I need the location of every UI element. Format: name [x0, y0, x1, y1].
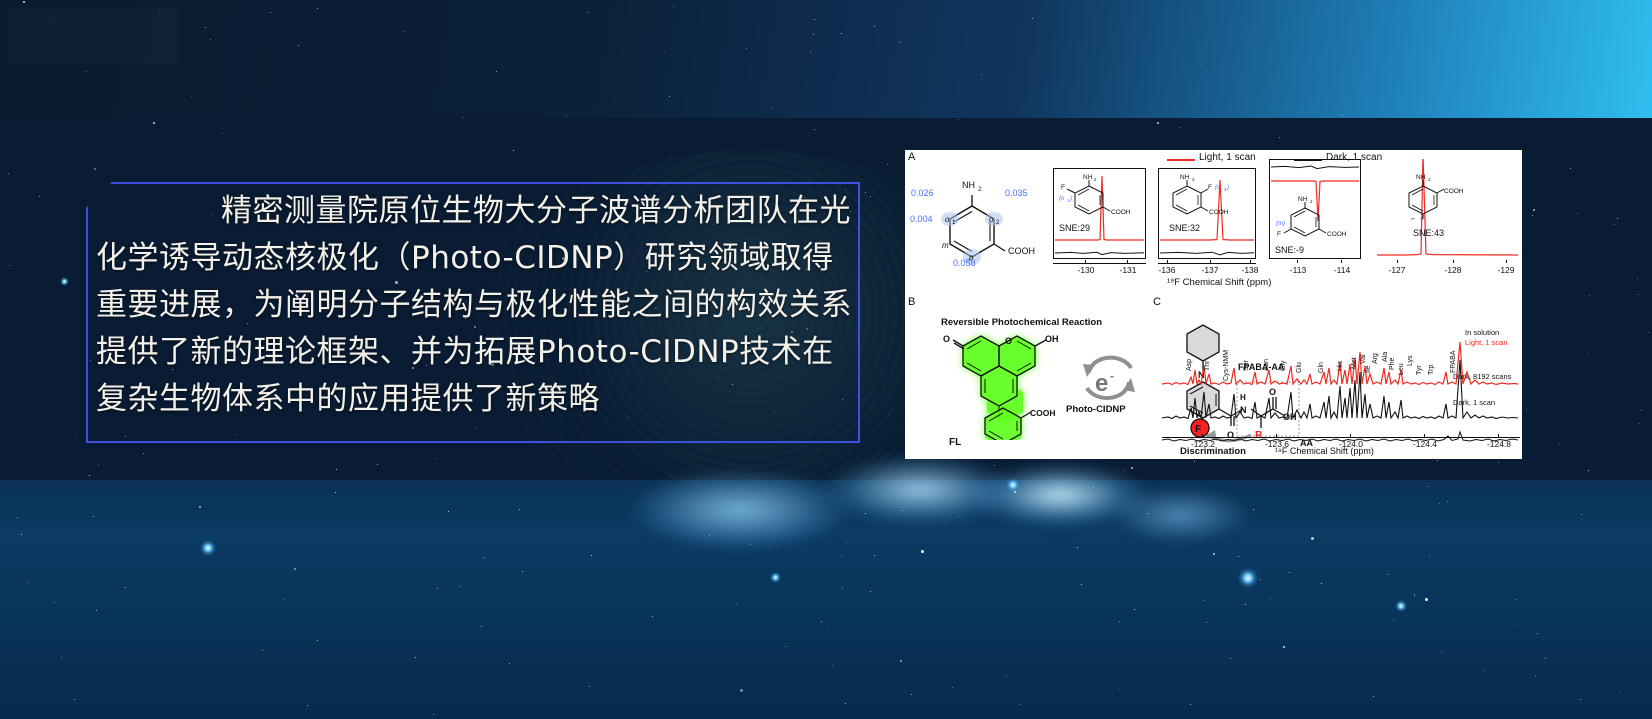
peak-label-gln: Gln [1318, 362, 1325, 373]
peak-label-thr: Thr [1204, 361, 1211, 372]
tick [1350, 434, 1351, 437]
peak-label-glu: Glu [1296, 362, 1303, 373]
tick [1167, 260, 1168, 263]
spectrum-m-molecule: NH 2 F (m) COOH [1275, 194, 1351, 240]
tick [1127, 260, 1128, 263]
svg-text:F: F [1277, 231, 1281, 238]
svg-text:): ) [1069, 196, 1072, 202]
fl-label: FL [949, 437, 961, 448]
tick [1506, 260, 1507, 263]
svg-text:(o: (o [1215, 185, 1221, 191]
spectrum-o1-sne: SNE:29 [1059, 223, 1090, 233]
panel-a-parent-structure: NH 2 COOH o 1 o 2 m p [912, 166, 1062, 274]
svg-text:(m): (m) [1276, 221, 1285, 227]
figure-card: A Light, 1 scan Dark, 1 scan NH 2 COOH o… [905, 150, 1522, 459]
trace-label-in-solution: In solution [1465, 328, 1499, 337]
tick [1297, 260, 1298, 263]
svg-text:m: m [942, 241, 949, 250]
glow-orb-3 [1006, 478, 1020, 492]
shift-value-m: 0.004 [910, 214, 933, 224]
legend-light-swatch [1167, 159, 1195, 161]
spectrum-p-sne: SNE:43 [1413, 228, 1444, 238]
panel-b-label: B [908, 296, 915, 308]
peak-label-ala: Ala [1382, 352, 1389, 362]
svg-text:2: 2 [978, 186, 982, 193]
spectrum-p-molecule: NH 2 COOH F (p) [1397, 170, 1477, 220]
peak-label-ser: Ser [1243, 360, 1250, 371]
fluorescein-structure: O O OH COOH [927, 330, 1087, 440]
svg-text:o: o [945, 215, 950, 224]
peak-label-cysnmm: Cys-NMM [1223, 350, 1230, 381]
legend-light-label: Light, 1 scan [1199, 152, 1256, 163]
spectrum-o1-tick-2: -131 [1113, 265, 1143, 275]
spectrum-o2-sne: SNE:32 [1169, 223, 1200, 233]
peak-label-ile: Ile [1365, 366, 1372, 373]
svg-text:F: F [1061, 184, 1065, 191]
tick [1453, 260, 1454, 263]
tick [1250, 260, 1251, 263]
peak-label-val: Val [1360, 354, 1367, 364]
peak-label-leu: Leu [1398, 363, 1405, 375]
peak-label-trp: Trp [1428, 365, 1435, 375]
peak-label-asp: Asp [1186, 359, 1193, 371]
tick [1498, 434, 1499, 437]
glow-orb-4 [770, 572, 781, 583]
spectrum-o2-axis [1158, 263, 1256, 264]
spectrum-o2-molecule: NH 2 F (o 2 ) COOH [1163, 172, 1239, 218]
svg-text:O: O [943, 334, 950, 344]
svg-text:(o: (o [1059, 196, 1065, 202]
svg-text:2: 2 [1310, 199, 1313, 204]
spectrum-p-tick-2: -128 [1438, 265, 1468, 275]
photo-cidnp-label: Photo-CIDNP [1066, 404, 1126, 415]
svg-text:COOH: COOH [1327, 231, 1347, 238]
svg-text:O: O [1005, 336, 1012, 346]
panel-c-axis-title: ¹⁹F Chemical Shift (ppm) [1275, 446, 1374, 456]
svg-text:NH: NH [1180, 174, 1190, 181]
svg-text:NH: NH [1416, 174, 1426, 181]
peak-label-fpaba: FPABA [1450, 351, 1457, 373]
tick [1276, 434, 1277, 437]
spectrum-o1-axis [1053, 263, 1146, 264]
glow-orb-6 [60, 277, 69, 286]
panel-c-tick-1: -123.2 [1184, 439, 1222, 449]
banner-stage: 精密测量院原位生物大分子波谱分析团队在光化学诱导动态核极化（Photo-CIDN… [0, 0, 1652, 719]
svg-text:OH: OH [1045, 334, 1059, 344]
glow-orb-5 [1395, 600, 1407, 612]
spectrum-o2-tick-1: -136 [1152, 265, 1182, 275]
svg-text:COOH: COOH [1444, 188, 1464, 195]
tick [1202, 434, 1203, 437]
peak-label-phe: Phe [1389, 358, 1396, 370]
svg-text:(p): (p) [1419, 219, 1426, 220]
svg-text:F: F [1411, 218, 1415, 220]
svg-text:F: F [1208, 184, 1212, 191]
spectrum-p-tick-3: -129 [1491, 265, 1521, 275]
spectrum-p-tick-1: -127 [1382, 265, 1412, 275]
tick [1397, 260, 1398, 263]
spectrum-m-tick-2: -114 [1327, 265, 1357, 275]
panel-c-tick-4: -124.4 [1406, 439, 1444, 449]
svg-text:COOH: COOH [1030, 408, 1056, 418]
spectrum-o1-molecule: F NH 2 COOH (o 1 ) [1059, 172, 1131, 218]
glow-orb-2 [1238, 568, 1258, 588]
trace-label-dark-8192: Dark, 8192 scans [1453, 372, 1511, 381]
spectrum-o1-tick-1: -130 [1071, 265, 1101, 275]
trace-label-dark-1: Dark, 1 scan [1453, 398, 1495, 407]
background-top-gradient [0, 0, 1652, 118]
peak-label-his: His [1337, 361, 1344, 371]
tick [1085, 260, 1086, 263]
panel-b-title: Reversible Photochemical Reaction [941, 317, 1102, 328]
svg-text:o: o [989, 215, 994, 224]
panel-c-axis [1162, 437, 1520, 438]
peak-label-met: Met [1351, 357, 1358, 369]
top-left-block [8, 8, 180, 64]
svg-text:COOH: COOH [1209, 209, 1229, 216]
panel-c-label: C [1153, 296, 1161, 308]
peak-label-gly: Gly [1280, 361, 1287, 372]
shift-value-p: 0.058 [953, 258, 976, 268]
svg-text:2: 2 [1428, 177, 1431, 182]
panel-c-tick-5: -124.8 [1480, 439, 1518, 449]
tick [1341, 260, 1342, 263]
svg-text:): ) [1226, 185, 1229, 191]
spectrum-m-sne: SNE:-9 [1275, 245, 1304, 255]
shift-value-o1: 0.026 [911, 188, 934, 198]
panel-a-axis-title: ¹⁹F Chemical Shift (ppm) [1167, 277, 1271, 288]
peak-label-lys: Lys [1407, 355, 1414, 366]
shift-value-o2: 0.035 [1005, 188, 1028, 198]
svg-text:2: 2 [1094, 177, 1097, 182]
svg-text:COOH: COOH [1111, 209, 1131, 216]
peak-label-tyr: Tyr [1416, 365, 1423, 375]
tick [1424, 434, 1425, 437]
peak-label-asn: Asn [1263, 359, 1270, 371]
svg-text:-: - [1110, 369, 1114, 383]
svg-text:NH: NH [1298, 196, 1308, 203]
glow-orb-1 [200, 540, 216, 556]
svg-text:e: e [1095, 370, 1108, 397]
spectrum-o2-tick-3: -138 [1235, 265, 1265, 275]
svg-text:2: 2 [1192, 177, 1195, 182]
svg-text:NH: NH [1083, 174, 1093, 181]
spectrum-m-tick-1: -113 [1283, 265, 1313, 275]
spectrum-o2-tick-2: -137 [1195, 265, 1225, 275]
svg-text:NH: NH [962, 180, 975, 190]
panel-a-label: A [908, 151, 915, 163]
headline-text: 精密测量院原位生物大分子波谱分析团队在光化学诱导动态核极化（Photo-CIDN… [96, 188, 856, 423]
svg-text:COOH: COOH [1008, 246, 1035, 256]
trace-label-light: Light, 1 scan [1465, 338, 1508, 347]
tick [1210, 260, 1211, 263]
photo-cidnp-arrow: e - [1077, 352, 1141, 408]
peak-label-arg: Arg [1372, 353, 1379, 364]
